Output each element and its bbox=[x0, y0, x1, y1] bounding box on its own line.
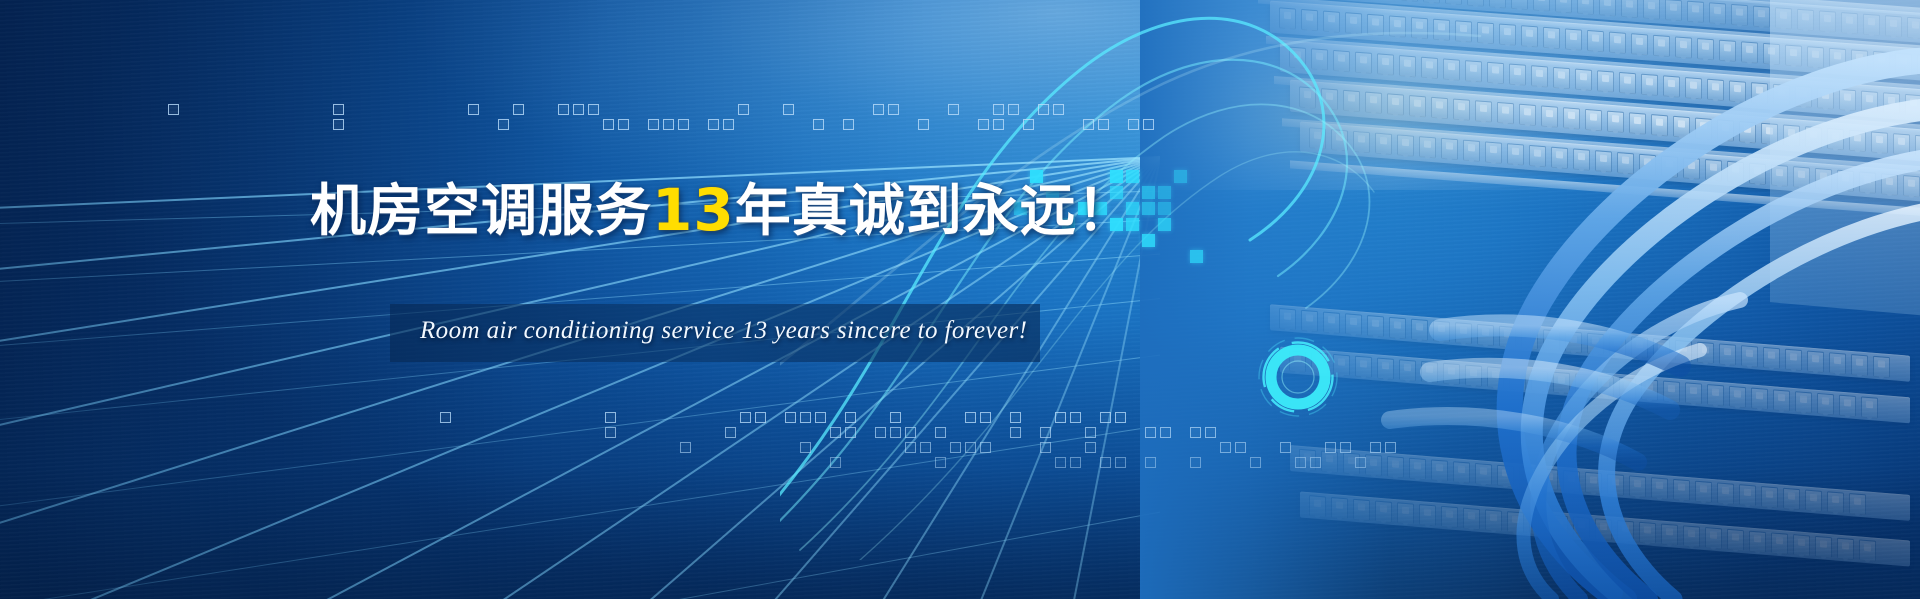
pixel-square bbox=[935, 427, 946, 438]
cyan-pixel-square bbox=[1158, 218, 1171, 231]
pixel-square bbox=[648, 119, 659, 130]
pixel-square bbox=[168, 104, 179, 115]
pixel-square bbox=[888, 104, 899, 115]
pixel-square bbox=[1128, 119, 1139, 130]
hud-ring-icon bbox=[1255, 334, 1341, 420]
pixel-square bbox=[800, 412, 811, 423]
pixel-square bbox=[605, 412, 616, 423]
pixel-square bbox=[573, 104, 584, 115]
cyan-pixel-square bbox=[1158, 186, 1171, 199]
pixel-square bbox=[843, 119, 854, 130]
pixel-square bbox=[1385, 442, 1396, 453]
pixel-square bbox=[920, 442, 931, 453]
pixel-square bbox=[680, 442, 691, 453]
pixel-square bbox=[1205, 427, 1216, 438]
pixel-square bbox=[1100, 412, 1111, 423]
page-title: 机房空调服务13年真诚到永远！ bbox=[310, 166, 1134, 247]
cyan-pixel-square bbox=[1190, 250, 1203, 263]
pixel-square bbox=[1085, 427, 1096, 438]
pixel-square bbox=[740, 412, 751, 423]
pixel-square bbox=[558, 104, 569, 115]
pixel-square bbox=[1280, 442, 1291, 453]
pixel-square bbox=[1085, 442, 1096, 453]
pixel-square bbox=[1370, 442, 1381, 453]
pixel-square bbox=[1310, 457, 1321, 468]
pixel-square bbox=[1340, 442, 1351, 453]
pixel-square bbox=[1010, 412, 1021, 423]
pixel-square bbox=[935, 457, 946, 468]
subtitle-text: Room air conditioning service 13 years s… bbox=[420, 317, 1020, 345]
pixel-square bbox=[980, 442, 991, 453]
cyan-pixel-square bbox=[1142, 186, 1155, 199]
pixel-square bbox=[333, 119, 344, 130]
pixel-square bbox=[1115, 412, 1126, 423]
pixel-square bbox=[993, 104, 1004, 115]
cyan-ribbon-swirl-icon bbox=[780, 0, 1540, 560]
pixel-square bbox=[800, 442, 811, 453]
pixel-square bbox=[1055, 457, 1066, 468]
pixel-square bbox=[1070, 412, 1081, 423]
pixel-square bbox=[813, 119, 824, 130]
pixel-square bbox=[948, 104, 959, 115]
pixel-square bbox=[830, 427, 841, 438]
pixel-square bbox=[1115, 457, 1126, 468]
cyan-pixel-square bbox=[1142, 202, 1155, 215]
pixel-square bbox=[603, 119, 614, 130]
pixel-square bbox=[1040, 442, 1051, 453]
pixel-square bbox=[1235, 442, 1246, 453]
pixel-square bbox=[905, 427, 916, 438]
pixel-square bbox=[1008, 104, 1019, 115]
pixel-square bbox=[993, 119, 1004, 130]
pixel-square bbox=[1143, 119, 1154, 130]
pixel-square bbox=[1145, 427, 1156, 438]
pixel-square bbox=[890, 427, 901, 438]
pixel-square bbox=[738, 104, 749, 115]
headline-suffix: 年真诚到永远！ bbox=[735, 179, 1134, 244]
pixel-square bbox=[978, 119, 989, 130]
pixel-square bbox=[1098, 119, 1109, 130]
pixel-square bbox=[873, 104, 884, 115]
hero-banner: 机房空调服务13年真诚到永远！ Room air conditioning se… bbox=[0, 0, 1920, 599]
pixel-square bbox=[605, 427, 616, 438]
pixel-square bbox=[1295, 457, 1306, 468]
cyan-pixel-square bbox=[1158, 202, 1171, 215]
pixel-square bbox=[1070, 457, 1081, 468]
cyan-pixel-square bbox=[1142, 234, 1155, 247]
pixel-square bbox=[588, 104, 599, 115]
pixel-square bbox=[965, 442, 976, 453]
pixel-square bbox=[723, 119, 734, 130]
cyan-pixel-square bbox=[1174, 170, 1187, 183]
headline-number: 13 bbox=[652, 176, 735, 244]
pixel-square bbox=[618, 119, 629, 130]
pixel-square bbox=[783, 104, 794, 115]
pixel-square bbox=[1010, 427, 1021, 438]
pixel-square bbox=[845, 427, 856, 438]
pixel-square bbox=[830, 457, 841, 468]
pixel-square bbox=[1038, 104, 1049, 115]
pixel-square bbox=[890, 412, 901, 423]
pixel-square bbox=[1100, 457, 1111, 468]
pixel-square bbox=[513, 104, 524, 115]
pixel-square bbox=[845, 412, 856, 423]
pixel-square bbox=[1053, 104, 1064, 115]
pixel-square bbox=[1355, 457, 1366, 468]
pixel-square bbox=[1055, 412, 1066, 423]
pixel-square bbox=[815, 412, 826, 423]
pixel-square bbox=[725, 427, 736, 438]
pixel-square bbox=[1040, 427, 1051, 438]
pixel-square bbox=[440, 412, 451, 423]
pixel-square bbox=[663, 119, 674, 130]
pixel-square bbox=[1325, 442, 1336, 453]
pixel-square bbox=[965, 412, 976, 423]
pixel-square bbox=[918, 119, 929, 130]
pixel-square bbox=[950, 442, 961, 453]
headline-prefix: 机房空调服务 bbox=[310, 179, 652, 244]
pixel-square bbox=[708, 119, 719, 130]
pixel-square bbox=[1250, 457, 1261, 468]
pixel-square bbox=[1160, 427, 1171, 438]
pixel-square bbox=[468, 104, 479, 115]
pixel-square bbox=[498, 119, 509, 130]
pixel-square bbox=[1190, 427, 1201, 438]
pixel-square bbox=[333, 104, 344, 115]
pixel-square bbox=[1023, 119, 1034, 130]
pixel-square bbox=[1083, 119, 1094, 130]
pixel-square bbox=[785, 412, 796, 423]
pixel-square bbox=[905, 442, 916, 453]
pixel-square bbox=[1145, 457, 1156, 468]
pixel-square bbox=[755, 412, 766, 423]
pixel-square bbox=[1190, 457, 1201, 468]
pixel-square bbox=[678, 119, 689, 130]
pixel-square bbox=[980, 412, 991, 423]
pixel-square bbox=[1220, 442, 1231, 453]
pixel-square bbox=[875, 427, 886, 438]
